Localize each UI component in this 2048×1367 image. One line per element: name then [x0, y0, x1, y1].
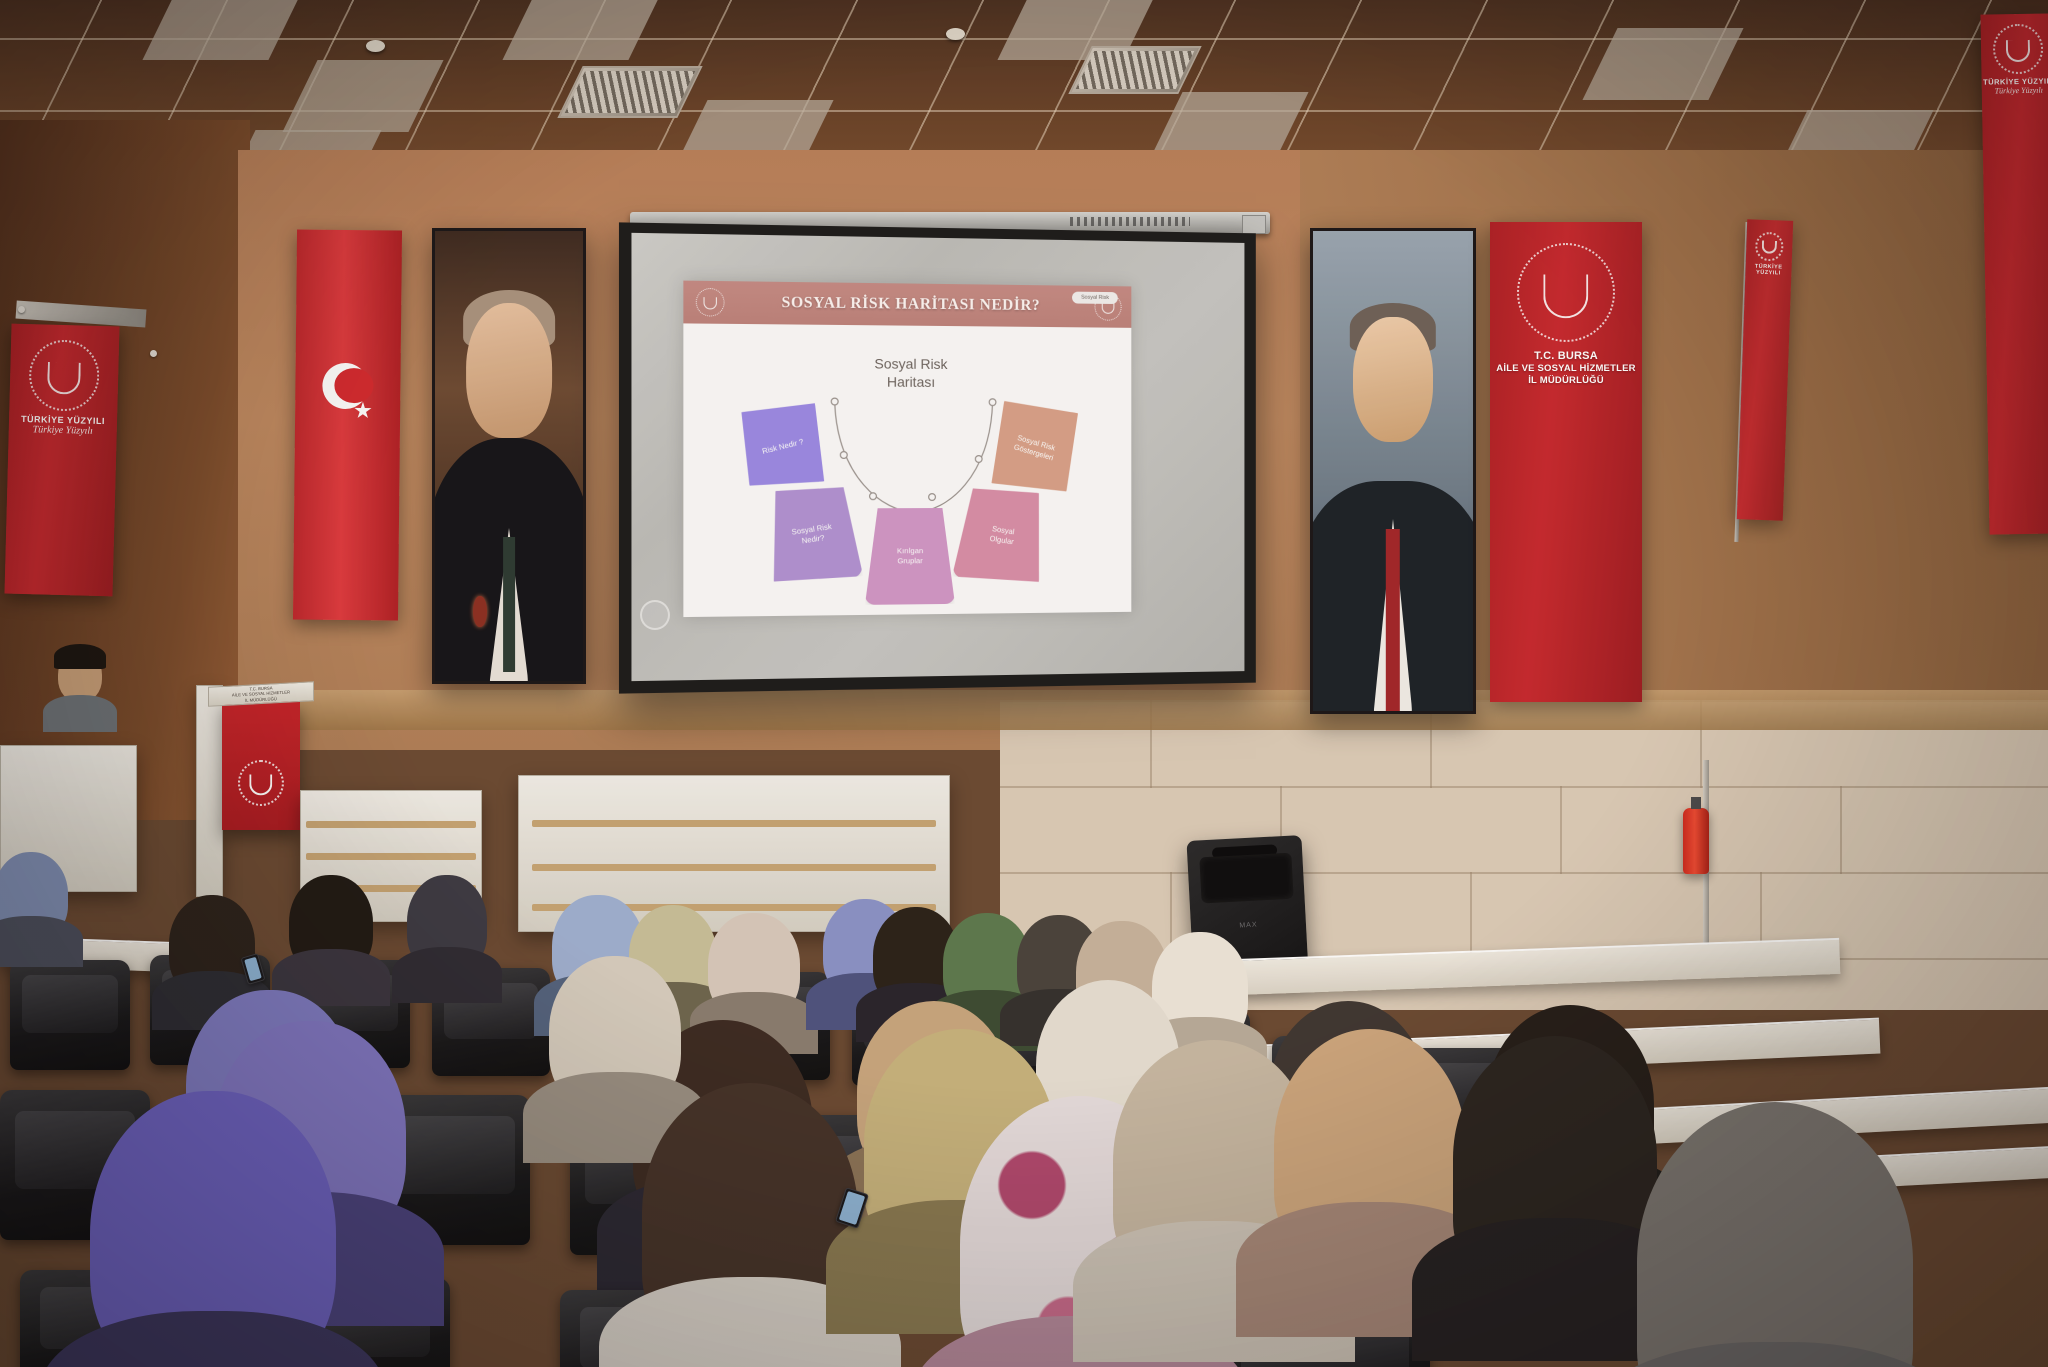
attendee [1660, 1118, 1890, 1367]
century-banner-signature: Türkiye Yüzyılı [9, 424, 117, 438]
attendee [0, 856, 62, 926]
ministry-seal-icon [28, 339, 101, 412]
attendee [1160, 938, 1240, 1030]
banner-pin [18, 306, 25, 313]
attendee [716, 918, 792, 1004]
banner-pin [150, 350, 157, 357]
attendee [880, 912, 952, 994]
staff-member [58, 650, 102, 702]
fire-extinguisher [1683, 808, 1709, 874]
screen-roller-knob [640, 600, 670, 630]
smoke-detector-icon [366, 40, 385, 52]
attendee [950, 918, 1024, 1002]
attendee [110, 1105, 315, 1345]
attendee [660, 1096, 840, 1306]
wall-dado-band [238, 690, 2048, 730]
attendee [560, 964, 670, 1090]
ceiling-air-vent [1068, 46, 1201, 94]
ministry-emblem-icon [696, 288, 725, 317]
auditorium-seat[interactable] [10, 960, 130, 1070]
century-banner-left: TÜRKİYE YÜZYILI Türkiye Yüzyılı [4, 324, 119, 597]
attendee [296, 880, 366, 960]
presentation-slide: SOSYAL RİSK HARİTASI NEDİR? Sosyal Risk … [683, 281, 1131, 617]
smoke-detector-icon [946, 28, 965, 40]
projection-screen: SOSYAL RİSK HARİTASI NEDİR? Sosyal Risk … [619, 222, 1256, 693]
slide-header: SOSYAL RİSK HARİTASI NEDİR? [683, 281, 1131, 328]
podium-plate: T.C. BURSA AİLE VE SOSYAL HİZMETLER İL M… [208, 681, 314, 707]
ministry-banner-line1: T.C. BURSA [1490, 350, 1642, 364]
ministry-seal-icon [1517, 243, 1615, 341]
screen-bracket [1242, 215, 1266, 234]
slide-corner-chip: Sosyal Risk [1072, 292, 1117, 304]
attendee [1470, 1048, 1640, 1246]
slide-title: SOSYAL RİSK HARİTASI NEDİR? [725, 293, 1095, 315]
century-banner-signature: Türkiye Yüzyılı [1982, 86, 2048, 96]
attendee [176, 900, 248, 982]
erdogan-portrait [1310, 228, 1476, 714]
ministry-seal-icon [1754, 232, 1784, 262]
speaker-podium: T.C. BURSA AİLE VE SOSYAL HİZMETLER İL M… [222, 700, 300, 830]
century-banner-headline: TÜRKİYE YÜZYILI [1745, 263, 1791, 277]
ministry-banner-line3: İL MÜDÜRLÜĞÜ [1490, 375, 1642, 387]
century-banner-right: TÜRKİYE YÜZYILI Türkiye Yüzyılı [1980, 13, 2048, 534]
speaker-grill [1199, 852, 1293, 904]
slide-body: Sosyal Risk Haritası Risk N [683, 323, 1131, 617]
ministry-banner-right: T.C. BURSA AİLE VE SOSYAL HİZMETLER İL M… [1490, 222, 1642, 702]
crescent-icon [322, 362, 369, 409]
ministry-seal-icon [238, 760, 284, 806]
desk-side-panel [196, 685, 223, 897]
ceiling-air-vent [557, 66, 702, 118]
attendee [414, 880, 480, 958]
screen-surface: SOSYAL RİSK HARİTASI NEDİR? Sosyal Risk … [631, 233, 1244, 681]
semicircle-diagram: Sosyal Risk Haritası Risk N [683, 323, 1131, 617]
speaker-brand-label: MAX [1239, 922, 1258, 930]
diagram-petal[interactable]: Kırılgan Gruplar [865, 508, 955, 605]
conference-hall-photo: TÜRKİYE YÜZYILI Türkiye Yüzyılı SOSYAL R… [0, 0, 2048, 1367]
attendee [1290, 1040, 1450, 1228]
turkish-flag-banner [293, 229, 402, 620]
ataturk-portrait [432, 228, 586, 684]
ministry-banner-line2: AİLE VE SOSYAL HİZMETLER [1490, 363, 1642, 375]
ministry-seal-icon [1993, 24, 2044, 75]
